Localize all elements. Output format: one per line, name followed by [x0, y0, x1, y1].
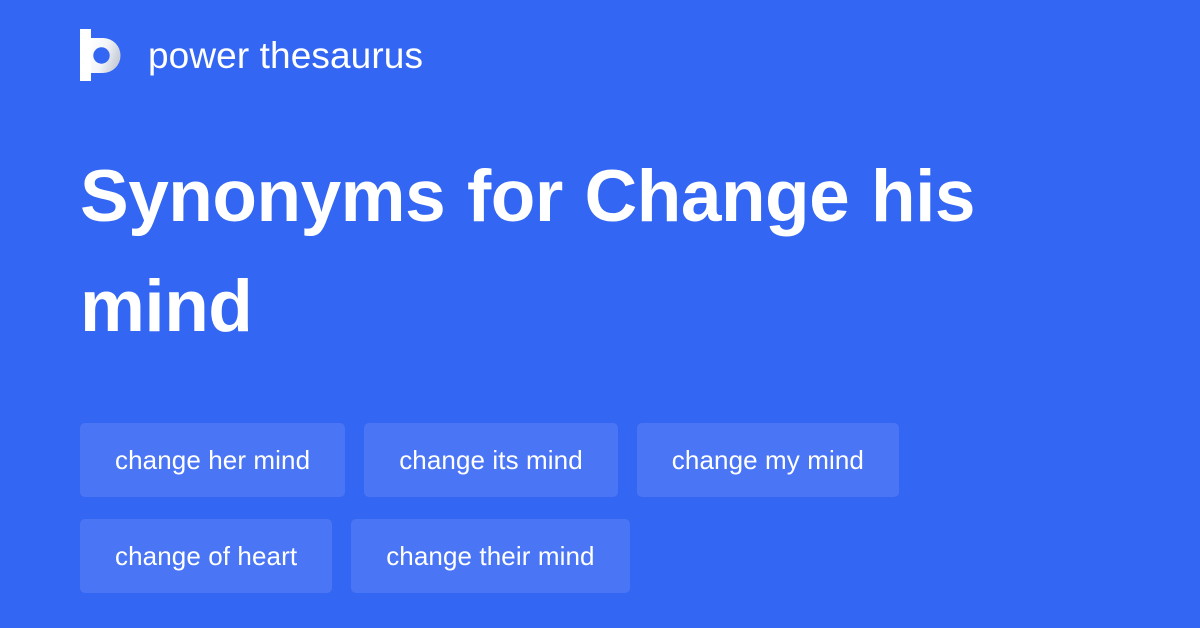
brand-word-thesaurus: thesaurus	[260, 35, 423, 76]
brand-wordmark: power thesaurus	[148, 37, 423, 74]
synonym-pill[interactable]: change of heart	[80, 519, 332, 593]
power-thesaurus-logo-icon	[80, 29, 126, 81]
synonym-pill[interactable]: change my mind	[637, 423, 899, 497]
brand-word-power: power	[148, 35, 249, 76]
brand-header[interactable]: power thesaurus	[80, 27, 423, 83]
synonym-pill-list: change her mind change its mind change m…	[80, 423, 1120, 593]
synonym-pill[interactable]: change their mind	[351, 519, 629, 593]
synonym-row-1: change her mind change its mind change m…	[80, 423, 1120, 497]
share-card: power thesaurus Synonyms for Change his …	[0, 0, 1200, 628]
page-title: Synonyms for Change his mind	[80, 142, 1120, 362]
synonym-pill[interactable]: change her mind	[80, 423, 345, 497]
synonym-row-2: change of heart change their mind	[80, 519, 1120, 593]
synonym-pill[interactable]: change its mind	[364, 423, 618, 497]
